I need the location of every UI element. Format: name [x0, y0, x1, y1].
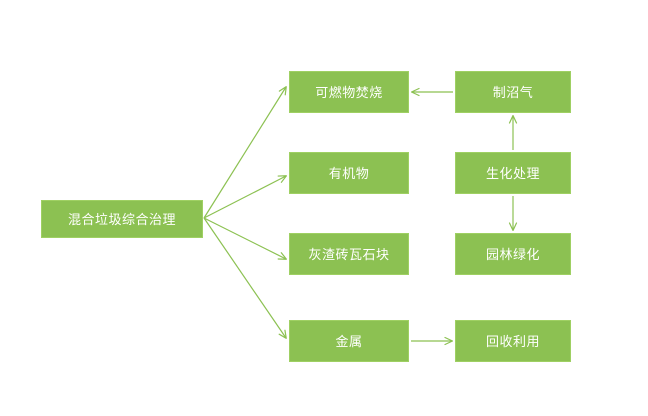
node-biogas-production-label: 制沼气 — [493, 86, 534, 99]
node-root[interactable]: 混合垃圾综合治理 — [41, 200, 203, 238]
node-biochemical-treatment-label: 生化处理 — [486, 167, 540, 180]
node-organic-matter-label: 有机物 — [329, 167, 370, 180]
node-combustible-incineration[interactable]: 可燃物焚烧 — [289, 71, 409, 113]
node-recycling-reuse[interactable]: 回收利用 — [455, 320, 571, 362]
node-root-label: 混合垃圾综合治理 — [68, 213, 176, 226]
node-biochemical-treatment[interactable]: 生化处理 — [455, 152, 571, 194]
edge-root-to-ash — [204, 218, 286, 259]
node-landscape-greening-label: 园林绿化 — [486, 248, 540, 261]
node-ash-brick-tile-stone-label: 灰渣砖瓦石块 — [308, 248, 389, 261]
node-ash-brick-tile-stone[interactable]: 灰渣砖瓦石块 — [289, 233, 409, 275]
edge-root-to-combustible — [204, 87, 286, 218]
node-recycling-reuse-label: 回收利用 — [486, 335, 540, 348]
node-combustible-incineration-label: 可燃物焚烧 — [315, 86, 383, 99]
flowchart-canvas: 混合垃圾综合治理 可燃物焚烧 有机物 灰渣砖瓦石块 金属 制沼气 生化处理 园林… — [0, 0, 648, 416]
edge-root-to-metal — [204, 218, 286, 338]
node-metal-label: 金属 — [335, 335, 362, 348]
edge-root-to-organic — [204, 176, 286, 218]
node-metal[interactable]: 金属 — [289, 320, 409, 362]
node-organic-matter[interactable]: 有机物 — [289, 152, 409, 194]
node-landscape-greening[interactable]: 园林绿化 — [455, 233, 571, 275]
node-biogas-production[interactable]: 制沼气 — [455, 71, 571, 113]
